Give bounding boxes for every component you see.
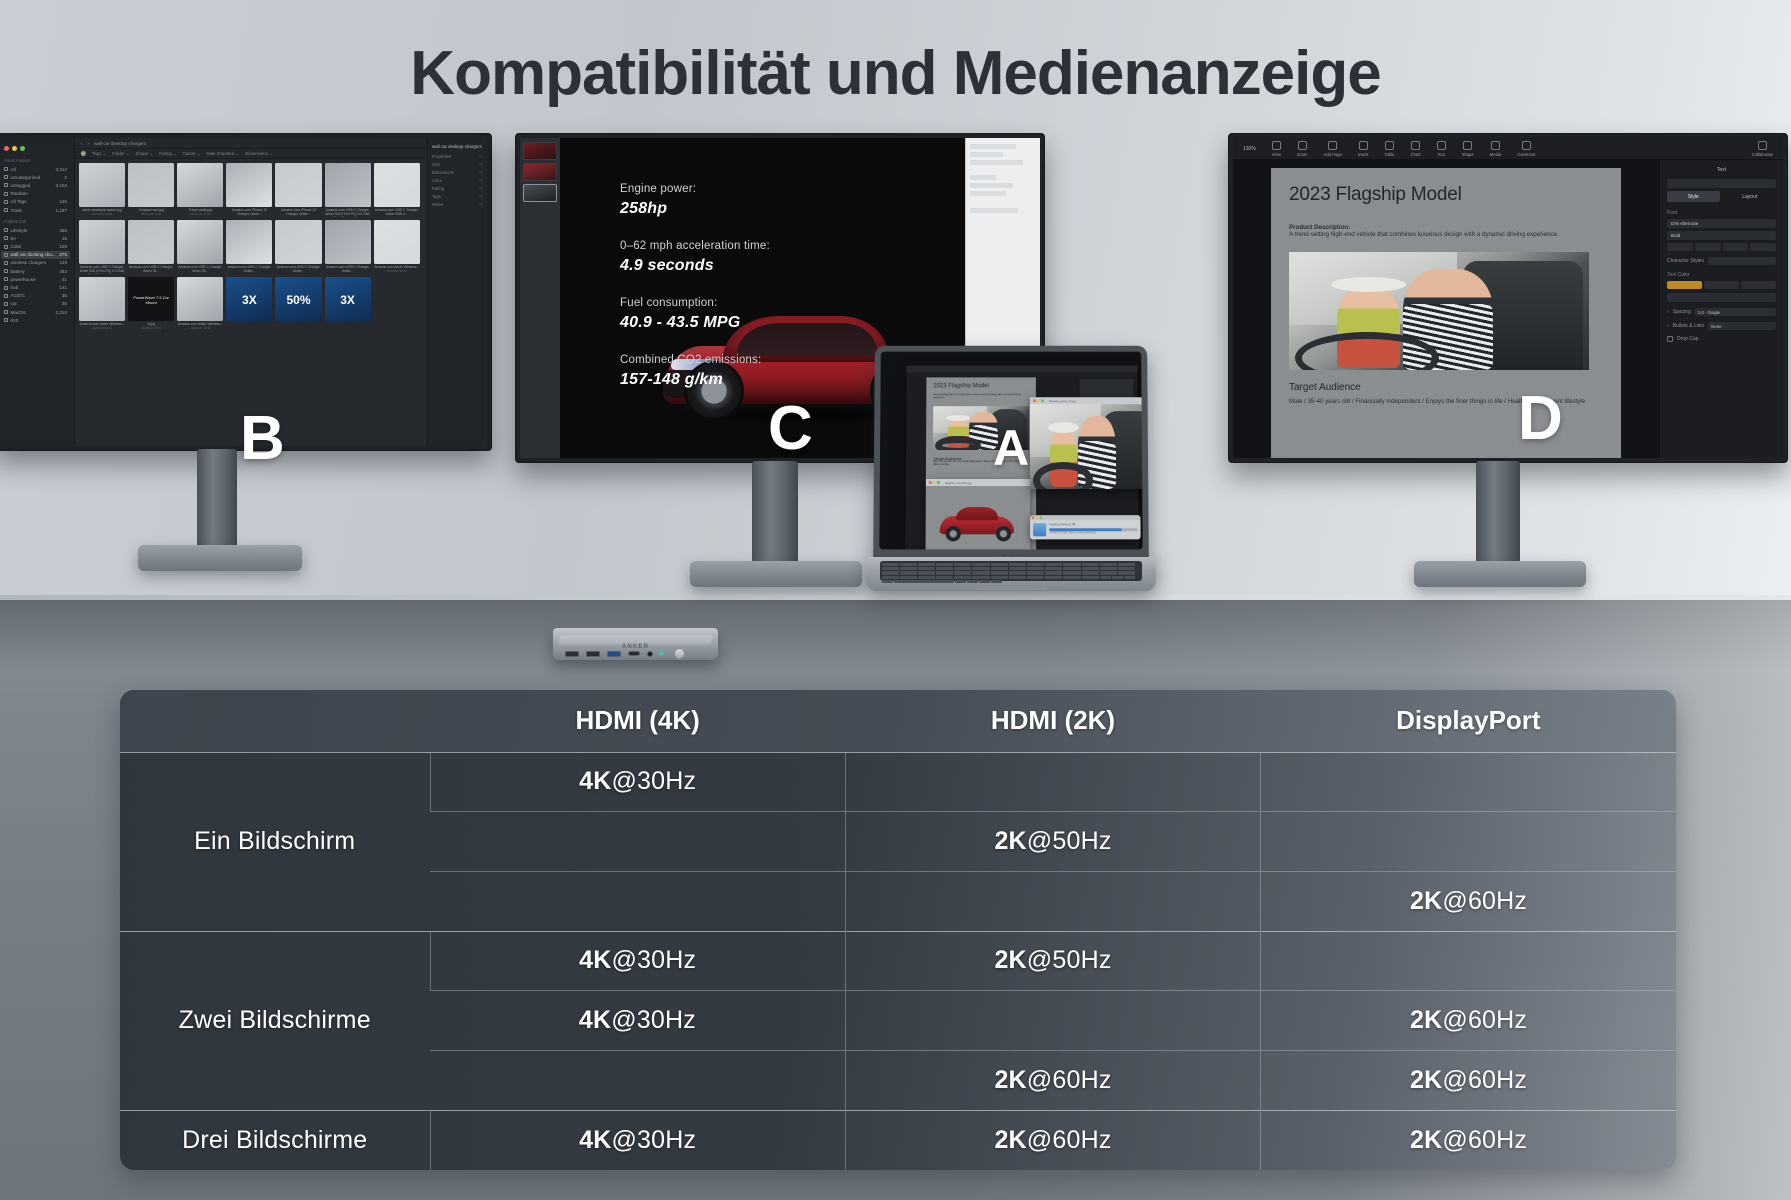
panel-row	[970, 191, 1006, 196]
sidebar-item-all-tags[interactable]: All Tags130	[1, 198, 70, 206]
asset-caption: Travel ready.jpg2023/1/21 10:44	[177, 208, 223, 217]
minimize-icon[interactable]	[1037, 399, 1040, 402]
audio-jack-port[interactable]	[647, 651, 653, 657]
table-cell	[845, 752, 1260, 812]
toolbar-label: Media	[1490, 152, 1501, 157]
monitor-d-screen: 130% View Zoom Add Page Insert Table Cha…	[1233, 138, 1783, 458]
keyboard-key[interactable]	[900, 563, 917, 566]
keyboard-key[interactable]	[882, 580, 893, 583]
sidebar-item-car[interactable]: car28	[1, 300, 70, 308]
inspector-preview-field[interactable]	[1667, 179, 1776, 188]
keyboard-key[interactable]	[991, 576, 1008, 579]
keyboard-key[interactable]	[1009, 571, 1026, 574]
toolbar-label: Add Page	[1324, 152, 1342, 157]
keyboard-key[interactable]	[1112, 576, 1123, 579]
table-row: Ein Bildschirm4K@30Hz	[120, 752, 1676, 812]
asset-caption: Amazon.com USB C Charger, Anker 535 4 Po…	[79, 265, 125, 274]
keyboard-key[interactable]	[894, 580, 954, 583]
minimize-icon[interactable]	[1036, 516, 1038, 518]
asset-filename: Amazon.com USB C Charger, Anker 05...	[129, 265, 173, 273]
filter-tags[interactable]: Tags ⌄	[92, 151, 106, 157]
keyboard-key[interactable]	[979, 580, 990, 583]
sidebar-item-610[interactable]: 610	[1, 316, 70, 324]
asset-tile[interactable]: Amazon.com Anker Wireless...2023/1/21 18…	[79, 277, 125, 331]
asset-inspector: wall car desktop chargers Properties—Siz…	[427, 138, 487, 446]
toolbar-label: Chart	[1410, 152, 1420, 157]
sidebar-item-label: Random	[11, 191, 28, 196]
asset-tile[interactable]: Amazon.com Anker Wireless...2023/1/21 18…	[177, 277, 223, 331]
keyboard-key[interactable]	[967, 580, 978, 583]
laptop-window-lifestyle[interactable]: lifestyle_photo_01.jpg	[1030, 397, 1143, 489]
monitor-d: 130% View Zoom Add Page Insert Table Cha…	[1228, 133, 1788, 463]
presentation-body: 2023 Flagship Model Product Description:…	[1233, 160, 1783, 458]
table-cell: 2K@60Hz	[1261, 991, 1676, 1051]
inspector-field-tags: Tags—	[432, 194, 483, 199]
laptop-window-car-image[interactable]: flagship_red_001.jpg	[926, 479, 1031, 549]
asset-caption: Amazon.com USB C Charger, Anker...2023/1…	[275, 265, 321, 274]
window-titlebar-2[interactable]: lifestyle_photo_01.jpg	[1030, 397, 1143, 404]
asset-manager-toolbar[interactable]: ‹ › wall car desktop chargers	[75, 138, 427, 149]
font-label: Font	[1667, 210, 1776, 216]
window-title: flagship_red_001.jpg	[945, 481, 971, 485]
table-cell: 2K@60Hz	[1261, 871, 1676, 931]
media-icon	[1491, 141, 1500, 150]
keyboard-key[interactable]	[1009, 563, 1026, 566]
sidebar-item-label: wireless chargers	[11, 260, 47, 265]
keyboard-key[interactable]	[1045, 567, 1062, 570]
promo-tile[interactable]: 3X	[226, 277, 272, 331]
asset-banner-text: PowerWave 7.5 Car Mount	[128, 295, 174, 305]
usb-3-port[interactable]	[607, 651, 621, 657]
thumbnail-item-active[interactable]	[523, 184, 557, 202]
folder-icon	[4, 228, 8, 232]
keyboard-key[interactable]	[972, 563, 989, 566]
progress-bar	[1049, 529, 1137, 532]
keyboard-key[interactable]	[918, 571, 935, 574]
laptop-base	[866, 557, 1156, 591]
close-icon[interactable]	[929, 481, 932, 484]
toolbar-text[interactable]: Text	[1437, 141, 1446, 157]
asset-tile[interactable]: PowerWave 7.5 Car MountA.jpg2023/1/21 18…	[128, 277, 174, 331]
inspector-field-value: —	[479, 162, 483, 167]
sidebar-item-lifestyle[interactable]: Lifestyle460	[1, 226, 70, 234]
asset-date: 2023/1/21 18:06	[239, 273, 259, 274]
color-swatch[interactable]	[1704, 281, 1739, 289]
asset-tile[interactable]: Amazon.com USB C Charger, Anker 535 4 Po…	[79, 220, 125, 274]
asset-caption: Amazon.com iPhone 13 Charger, Anker...20…	[226, 208, 272, 217]
asset-tile[interactable]: Amazon.com USB C Charger, Anker...2023/1…	[325, 220, 371, 274]
product-description-body: A trend-setting high-end vehicle that co…	[1289, 231, 1589, 240]
toolbar-view[interactable]: View	[1272, 141, 1281, 157]
row-header: Zwei Bildschirme	[120, 931, 430, 1110]
keyboard-key[interactable]	[936, 576, 953, 579]
keyboard-key[interactable]	[900, 571, 917, 574]
panel-row	[970, 160, 1023, 165]
compatibility-table: HDMI (4K) HDMI (2K) DisplayPort Ein Bild…	[120, 690, 1676, 1170]
sidebar-item-label: AC/DC	[11, 293, 25, 298]
keyboard-key[interactable]	[1045, 576, 1062, 579]
toolbar-label: Shape	[1462, 152, 1474, 157]
sidebar-item-battery[interactable]: battery263	[1, 267, 70, 275]
sidebar-item-label: 610	[11, 318, 19, 323]
table-cell	[430, 1051, 845, 1111]
keyboard-key[interactable]	[1124, 576, 1135, 579]
folder-icon	[4, 318, 8, 322]
keyboard-key[interactable]	[1100, 571, 1117, 574]
asset-thumbnail: PowerWave 7.5 Car Mount	[128, 277, 174, 321]
asset-thumbnail	[177, 277, 223, 321]
thumbnail-item[interactable]	[523, 142, 557, 160]
toolbar-zoom[interactable]: Zoom	[1297, 141, 1308, 157]
inspector-field-value: —	[479, 202, 483, 207]
sidebar-item-label: 5A	[11, 236, 17, 241]
keyboard-key[interactable]	[1027, 571, 1044, 574]
chevron-right-icon[interactable]: ›	[1667, 309, 1669, 315]
usb-c-port[interactable]	[628, 651, 640, 656]
sidebar-item-count: 263	[59, 269, 67, 274]
folder-icon	[4, 192, 8, 196]
keyboard-key[interactable]	[936, 571, 953, 574]
inspector-field-label: Tags	[432, 194, 441, 199]
asset-thumbnail	[275, 163, 321, 207]
asset-tile[interactable]: Amazon.com USB C Charger, Anker 05...202…	[128, 220, 174, 274]
tab-layout[interactable]: Layout	[1724, 191, 1777, 202]
window-controls[interactable]	[4, 146, 70, 151]
asset-tile[interactable]: Amazon.com Anker Wireless...2023/1/21 18…	[374, 220, 420, 274]
laptop-slide-desc: A trend-setting high-end vehicle that co…	[933, 394, 1029, 401]
spec-list: Engine power: 258hp 0–62 mph acceleratio…	[620, 183, 770, 389]
keyboard-key[interactable]	[1118, 571, 1135, 574]
sidebar-item-powerhouse[interactable]: powerhouse41	[1, 275, 70, 283]
sidebar-item-macos[interactable]: MacOS2,310	[1, 308, 70, 316]
keyboard-key[interactable]	[936, 563, 953, 566]
maximize-icon[interactable]	[937, 481, 940, 484]
promo-tile[interactable]: 3X	[325, 277, 371, 331]
inspector-field-dimensions: Dimensions—	[432, 170, 483, 175]
thumbnail-strip[interactable]	[520, 138, 560, 458]
sidebar-item-untagged[interactable]: Untagged3,102	[1, 181, 70, 189]
row-header: Drei Bildschirme	[120, 1110, 430, 1170]
laptop-keyboard[interactable]	[880, 561, 1142, 581]
table-cell: 2K@60Hz	[1261, 1051, 1676, 1111]
col-header-blank	[120, 690, 430, 752]
asset-thumbnail	[79, 220, 125, 264]
presentation-app: 130% View Zoom Add Page Insert Table Cha…	[1233, 138, 1783, 458]
sidebar-item-wall-car-docking-cha[interactable]: wall car docking cha...275	[1, 251, 70, 259]
text-icon	[1437, 141, 1446, 150]
color-swatch[interactable]	[1741, 281, 1776, 289]
close-icon[interactable]	[1032, 516, 1034, 518]
keyboard-key[interactable]	[1082, 563, 1099, 566]
folder-icon	[4, 261, 8, 265]
filter-rating[interactable]: Rating ⌄	[159, 151, 177, 157]
asset-thumbnail	[177, 220, 223, 264]
asset-tile[interactable]: Amazon.com USB C Charger, Anker 543 4 Po…	[325, 163, 371, 217]
keyboard-key[interactable]	[900, 576, 917, 579]
toolbar-comment[interactable]: Comment	[1517, 141, 1535, 157]
usb-a-port-2[interactable]	[586, 651, 600, 657]
keyboard-key[interactable]	[1082, 571, 1099, 574]
presentation-toolbar[interactable]: 130% View Zoom Add Page Insert Table Cha…	[1233, 138, 1783, 160]
keyboard-key[interactable]	[955, 580, 966, 583]
keyboard-key[interactable]	[882, 567, 899, 570]
usb-a-port-1[interactable]	[565, 651, 579, 657]
keyboard-key[interactable]	[936, 567, 953, 570]
keyboard-key[interactable]	[900, 567, 917, 570]
filter-folder[interactable]: Folder ⌄	[112, 151, 129, 157]
keyboard-key[interactable]	[972, 571, 989, 574]
monitor-b-screen: Smart Folders All3,312Uncategorized2Unta…	[0, 138, 487, 446]
filter-dimensions[interactable]: Dimensions ⌄	[245, 151, 273, 157]
keyboard-key[interactable]	[918, 576, 935, 579]
asset-date: 2023/1/21 18:41	[387, 269, 407, 273]
laptop-trackpad[interactable]	[976, 587, 1046, 590]
format-inspector: Text Style Layout Font DIN Alternate Bol…	[1659, 160, 1783, 458]
keyboard-key[interactable]	[882, 576, 899, 579]
table-cell: 4K@30Hz	[430, 752, 845, 812]
sidebar-item-hub[interactable]: hub141	[1, 283, 70, 291]
filter-date-imported[interactable]: Date Imported ⌄	[206, 151, 239, 157]
asset-caption: Amazon.com USB C Charger, Anker 05...202…	[128, 265, 174, 274]
inspector-tabs[interactable]: Style Layout	[1667, 191, 1776, 202]
power-button[interactable]	[674, 648, 685, 659]
inspector-field-label: Dimensions	[432, 170, 454, 175]
table-row: Zwei Bildschirme4K@30Hz2K@50Hz	[120, 931, 1676, 991]
table-cell	[1261, 812, 1676, 872]
keyboard-key[interactable]	[1063, 571, 1080, 574]
table-cell: 4K@30Hz	[430, 1110, 845, 1170]
sidebar-item-count: 35	[62, 293, 67, 298]
spacing-value[interactable]: 1.0 - Single	[1695, 308, 1776, 316]
keyboard-key[interactable]	[954, 567, 971, 570]
zoom-level[interactable]: 130%	[1243, 146, 1256, 152]
slide: 2023 Flagship Model Product Description:…	[1271, 168, 1621, 458]
asset-tile[interactable]: Amazon.com iPhone 13 Charger, Anker...20…	[275, 163, 321, 217]
sidebar-item-label: Cubit	[11, 244, 22, 249]
keyboard-key[interactable]	[1009, 567, 1026, 570]
asset-date: 2023/1/21 18:41	[92, 326, 112, 330]
asset-thumbnail	[374, 220, 420, 264]
asset-thumbnail	[325, 220, 371, 264]
toolbar-collaborate[interactable]: Collaborate	[1752, 141, 1773, 157]
keyboard-key[interactable]	[1100, 576, 1111, 579]
sidebar-item-count: 3,312	[56, 167, 68, 172]
keyboard-key[interactable]	[1009, 576, 1026, 579]
sidebar-item-wireless-chargers[interactable]: wireless chargers119	[1, 259, 70, 267]
thumbnail-item[interactable]	[523, 163, 557, 181]
folder-icon	[4, 286, 8, 290]
asset-tile[interactable]: Amazon.com USB C Charger, Anker 65W 4...…	[374, 163, 420, 217]
keyboard-key[interactable]	[882, 563, 899, 566]
asset-tile[interactable]: Amazon.com USB C Charger, Anker...2023/1…	[275, 220, 321, 274]
keyboard-key[interactable]	[1100, 563, 1117, 566]
monitor-b-stand-neck	[197, 449, 237, 555]
toolbar-table[interactable]: Table	[1384, 141, 1394, 157]
asset-filename: Amazon.com USB C Charger, Anker 535 4 Po…	[80, 265, 125, 274]
sidebar-item-count: 1,187	[56, 208, 68, 213]
character-styles-select[interactable]	[1708, 257, 1776, 265]
keyboard-key[interactable]	[991, 580, 1002, 583]
keyboard-key[interactable]	[1082, 567, 1099, 570]
asset-grid[interactable]: anker powerport speed.jpg2023/2/23 18:04…	[75, 159, 427, 446]
bold-button[interactable]	[1695, 243, 1721, 251]
label-b: B	[240, 408, 285, 470]
spacing-row[interactable]: › Spacing 1.0 - Single	[1667, 308, 1776, 316]
keyboard-key[interactable]	[1063, 567, 1080, 570]
underline-button[interactable]	[1750, 243, 1776, 251]
filter-colors[interactable]: Colors ⌄	[183, 151, 201, 157]
col-header-hdmi4k: HDMI (4K)	[430, 690, 845, 752]
panel-row	[970, 152, 1003, 157]
sidebar-item-cubit[interactable]: Cubit109	[1, 243, 70, 251]
keyboard-key[interactable]	[954, 571, 971, 574]
sidebar-item-count: 141	[59, 285, 67, 290]
keyboard-key[interactable]	[954, 563, 971, 566]
asset-thumbnail	[128, 220, 174, 264]
slide-photo	[1289, 252, 1589, 370]
inspector-field-value: —	[479, 170, 483, 175]
forward-icon[interactable]: ›	[88, 141, 90, 146]
toolbar-chart[interactable]: Chart	[1410, 141, 1420, 157]
keyboard-key[interactable]	[918, 563, 935, 566]
sidebar-item-trash[interactable]: Trash1,187	[1, 206, 70, 214]
close-icon[interactable]	[4, 146, 9, 151]
maximize-icon[interactable]	[20, 146, 25, 151]
dock-ports[interactable]	[565, 648, 685, 659]
promo-text: 3X	[325, 293, 371, 307]
asset-tile[interactable]: anker powerport speed.jpg2023/2/23 18:04	[79, 163, 125, 217]
character-styles-label: Character Styles	[1667, 258, 1704, 264]
keyboard-key[interactable]	[1063, 563, 1080, 566]
asset-tile[interactable]: Compact size.jpg2023/1/21 10:41	[128, 163, 174, 217]
maximize-icon[interactable]	[1040, 516, 1042, 518]
asset-manager-filters[interactable]: Tags ⌄Folder ⌄Shape ⌄Rating ⌄Colors ⌄Dat…	[75, 149, 427, 159]
monitor-d-stand-base	[1414, 561, 1586, 587]
sidebar-item-label: Lifestyle	[11, 228, 28, 233]
italic-button[interactable]	[1723, 243, 1749, 251]
asset-tile[interactable]: Amazon.com USB C Charger, Anker 05...202…	[177, 220, 223, 274]
back-icon[interactable]: ‹	[81, 141, 83, 146]
maximize-icon[interactable]	[1041, 399, 1044, 402]
tab-style[interactable]: Style	[1667, 191, 1720, 202]
sidebar-item-5a[interactable]: 5A16	[1, 234, 70, 242]
dropcap-label: Drop Cap	[1677, 336, 1698, 342]
sidebar-smart-folders[interactable]: All3,312Uncategorized2Untagged3,102Rando…	[1, 165, 70, 214]
sidebar-folders[interactable]: Lifestyle4605A16Cubit109wall car docking…	[1, 226, 70, 324]
dropcap-checkbox[interactable]	[1667, 336, 1673, 342]
sidebar-item-label: wall car docking cha...	[11, 252, 56, 257]
bullets-row[interactable]: › Bullets & Lists None	[1667, 322, 1776, 330]
keyboard-key[interactable]	[1027, 567, 1044, 570]
sidebar-item-label: All Tags	[11, 199, 27, 204]
keyboard-key[interactable]	[1082, 576, 1099, 579]
color-filter-icon[interactable]	[81, 151, 86, 156]
label-c: C	[768, 398, 813, 460]
toolbar-insert[interactable]: Insert	[1358, 141, 1368, 157]
keyboard-key[interactable]	[1027, 563, 1044, 566]
keyboard-key[interactable]	[1063, 576, 1080, 579]
sidebar-item-all[interactable]: All3,312	[1, 165, 70, 173]
sidebar-item-label: Trash	[11, 208, 23, 213]
minimize-icon[interactable]	[933, 481, 936, 484]
keyboard-key[interactable]	[954, 576, 971, 579]
font-style-buttons[interactable]	[1667, 243, 1776, 251]
dropcap-row[interactable]: Drop Cap	[1667, 336, 1776, 342]
inspector-field-notes: Notes—	[432, 202, 483, 207]
sidebar-item-uncategorized[interactable]: Uncategorized2	[1, 173, 70, 181]
promo-text: 50%	[275, 293, 321, 307]
keyboard-key[interactable]	[1027, 576, 1044, 579]
asset-caption: anker powerport speed.jpg2023/2/23 18:04	[79, 208, 125, 217]
character-styles-row[interactable]: Character Styles	[1667, 257, 1776, 265]
asset-filename: Amazon.com USB C Charger, Anker 05...	[178, 265, 222, 273]
inspector-fields: Properties—Size—Dimensions—Color—Rating—…	[432, 154, 483, 207]
window-titlebar[interactable]: flagship_red_001.jpg	[926, 479, 1030, 486]
col-header-displayport: DisplayPort	[1261, 690, 1676, 752]
transfer-detail: 1.8 GB of 2.2 GB – About 1 minute remain…	[1049, 533, 1137, 536]
asset-filename: Amazon.com USB C Charger, Anker 65W 4...	[375, 208, 419, 216]
minimize-icon[interactable]	[12, 146, 17, 151]
toolbar-label: Zoom	[1297, 152, 1308, 157]
keyboard-key[interactable]	[1118, 567, 1135, 570]
color-picker-field[interactable]	[1667, 293, 1776, 302]
asset-tile[interactable]: Amazon.com iPhone 13 Charger, Anker...20…	[226, 163, 272, 217]
asset-tile[interactable]: Travel ready.jpg2023/1/21 10:44	[177, 163, 223, 217]
table-cell	[845, 991, 1260, 1051]
table-cell	[845, 871, 1260, 931]
keyboard-key[interactable]	[991, 563, 1008, 566]
keyboard-key[interactable]	[1100, 567, 1117, 570]
text-color-swatches[interactable]	[1667, 281, 1776, 289]
promo-thumbnail: 3X	[325, 277, 371, 321]
keyboard-key[interactable]	[1045, 563, 1062, 566]
toolbar-media[interactable]: Media	[1490, 141, 1501, 157]
sidebar-item-random[interactable]: Random	[1, 190, 70, 198]
color-swatch-selected[interactable]	[1667, 281, 1702, 289]
monitor-c-stand-base	[690, 561, 862, 587]
spacing-label: Spacing	[1673, 309, 1691, 315]
chevron-right-icon-2[interactable]: ›	[1667, 323, 1669, 329]
zoom-icon	[1298, 141, 1307, 150]
keyboard-key[interactable]	[972, 567, 989, 570]
table-header-row: HDMI (4K) HDMI (2K) DisplayPort	[120, 690, 1676, 752]
keyboard-key[interactable]	[882, 571, 899, 574]
file-transfer-dialog[interactable]: Copying 3 items to '1B' 1.8 GB of 2.2 GB…	[1030, 515, 1141, 539]
font-name-select[interactable]: DIN Alternate	[1667, 219, 1776, 228]
promo-text: 3X	[226, 293, 272, 307]
font-weight-select[interactable]: Bold	[1667, 231, 1776, 240]
keyboard-key[interactable]	[991, 567, 1008, 570]
font-size-stepper[interactable]	[1667, 243, 1693, 251]
keyboard-key[interactable]	[991, 571, 1008, 574]
keyboard-key[interactable]	[918, 567, 935, 570]
toolbar-add-page[interactable]: Add Page	[1324, 141, 1342, 157]
keyboard-key[interactable]	[1118, 563, 1135, 566]
keyboard-key[interactable]	[972, 576, 989, 579]
table-head: HDMI (4K) HDMI (2K) DisplayPort	[120, 690, 1676, 752]
keyboard-key[interactable]	[1045, 571, 1062, 574]
table-row: Drei Bildschirme4K@30Hz2K@60Hz2K@60Hz	[120, 1110, 1676, 1170]
sidebar-item-ac-dc[interactable]: AC/DC35	[1, 292, 70, 300]
filter-shape[interactable]: Shape ⌄	[136, 151, 154, 157]
asset-tile[interactable]: Amazon.com USB C Charger, Anker...2023/1…	[226, 220, 272, 274]
bullets-value[interactable]: None	[1708, 322, 1776, 330]
close-icon[interactable]	[1033, 399, 1036, 402]
asset-filename: Amazon.com USB C Charger, Anker...	[326, 265, 370, 273]
toolbar-shape[interactable]: Shape	[1462, 141, 1474, 157]
folder-icon	[4, 253, 8, 257]
promo-tile[interactable]: 50%	[275, 277, 321, 331]
